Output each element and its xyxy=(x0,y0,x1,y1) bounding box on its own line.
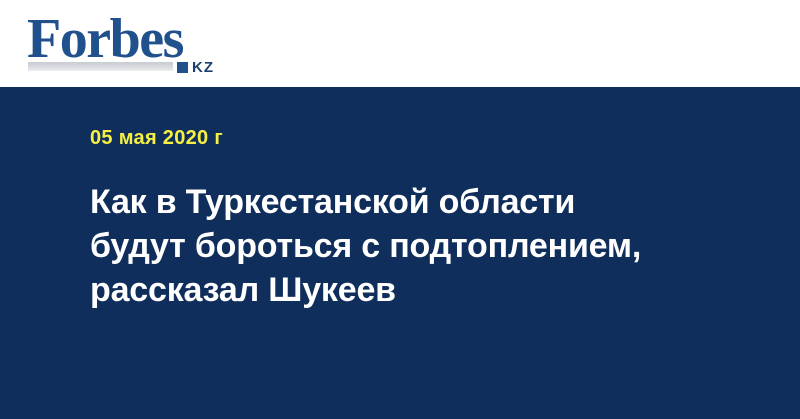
forbes-wordmark: Forbes xyxy=(27,11,183,67)
logo-kz-mark: KZ xyxy=(177,60,214,75)
page-title: Как в Туркестанской области будут бороть… xyxy=(90,180,680,312)
headline-line-3: рассказал Шукеев xyxy=(90,268,680,312)
headline-line-2: будут бороться с подтоплением, xyxy=(90,224,680,268)
article-card: Forbes KZ 05 мая 2020 г Как в Туркестанс… xyxy=(0,0,800,419)
site-header: Forbes KZ xyxy=(0,0,800,87)
headline-line-1: Как в Туркестанской области xyxy=(90,180,680,224)
navy-square-icon xyxy=(177,62,188,73)
hero-panel: 05 мая 2020 г Как в Туркестанской област… xyxy=(0,87,800,419)
logo-gray-bar xyxy=(28,62,173,71)
forbes-kz-logo[interactable]: Forbes KZ xyxy=(27,13,237,75)
publish-date: 05 мая 2020 г xyxy=(90,127,223,149)
logo-country-code: KZ xyxy=(192,60,214,75)
